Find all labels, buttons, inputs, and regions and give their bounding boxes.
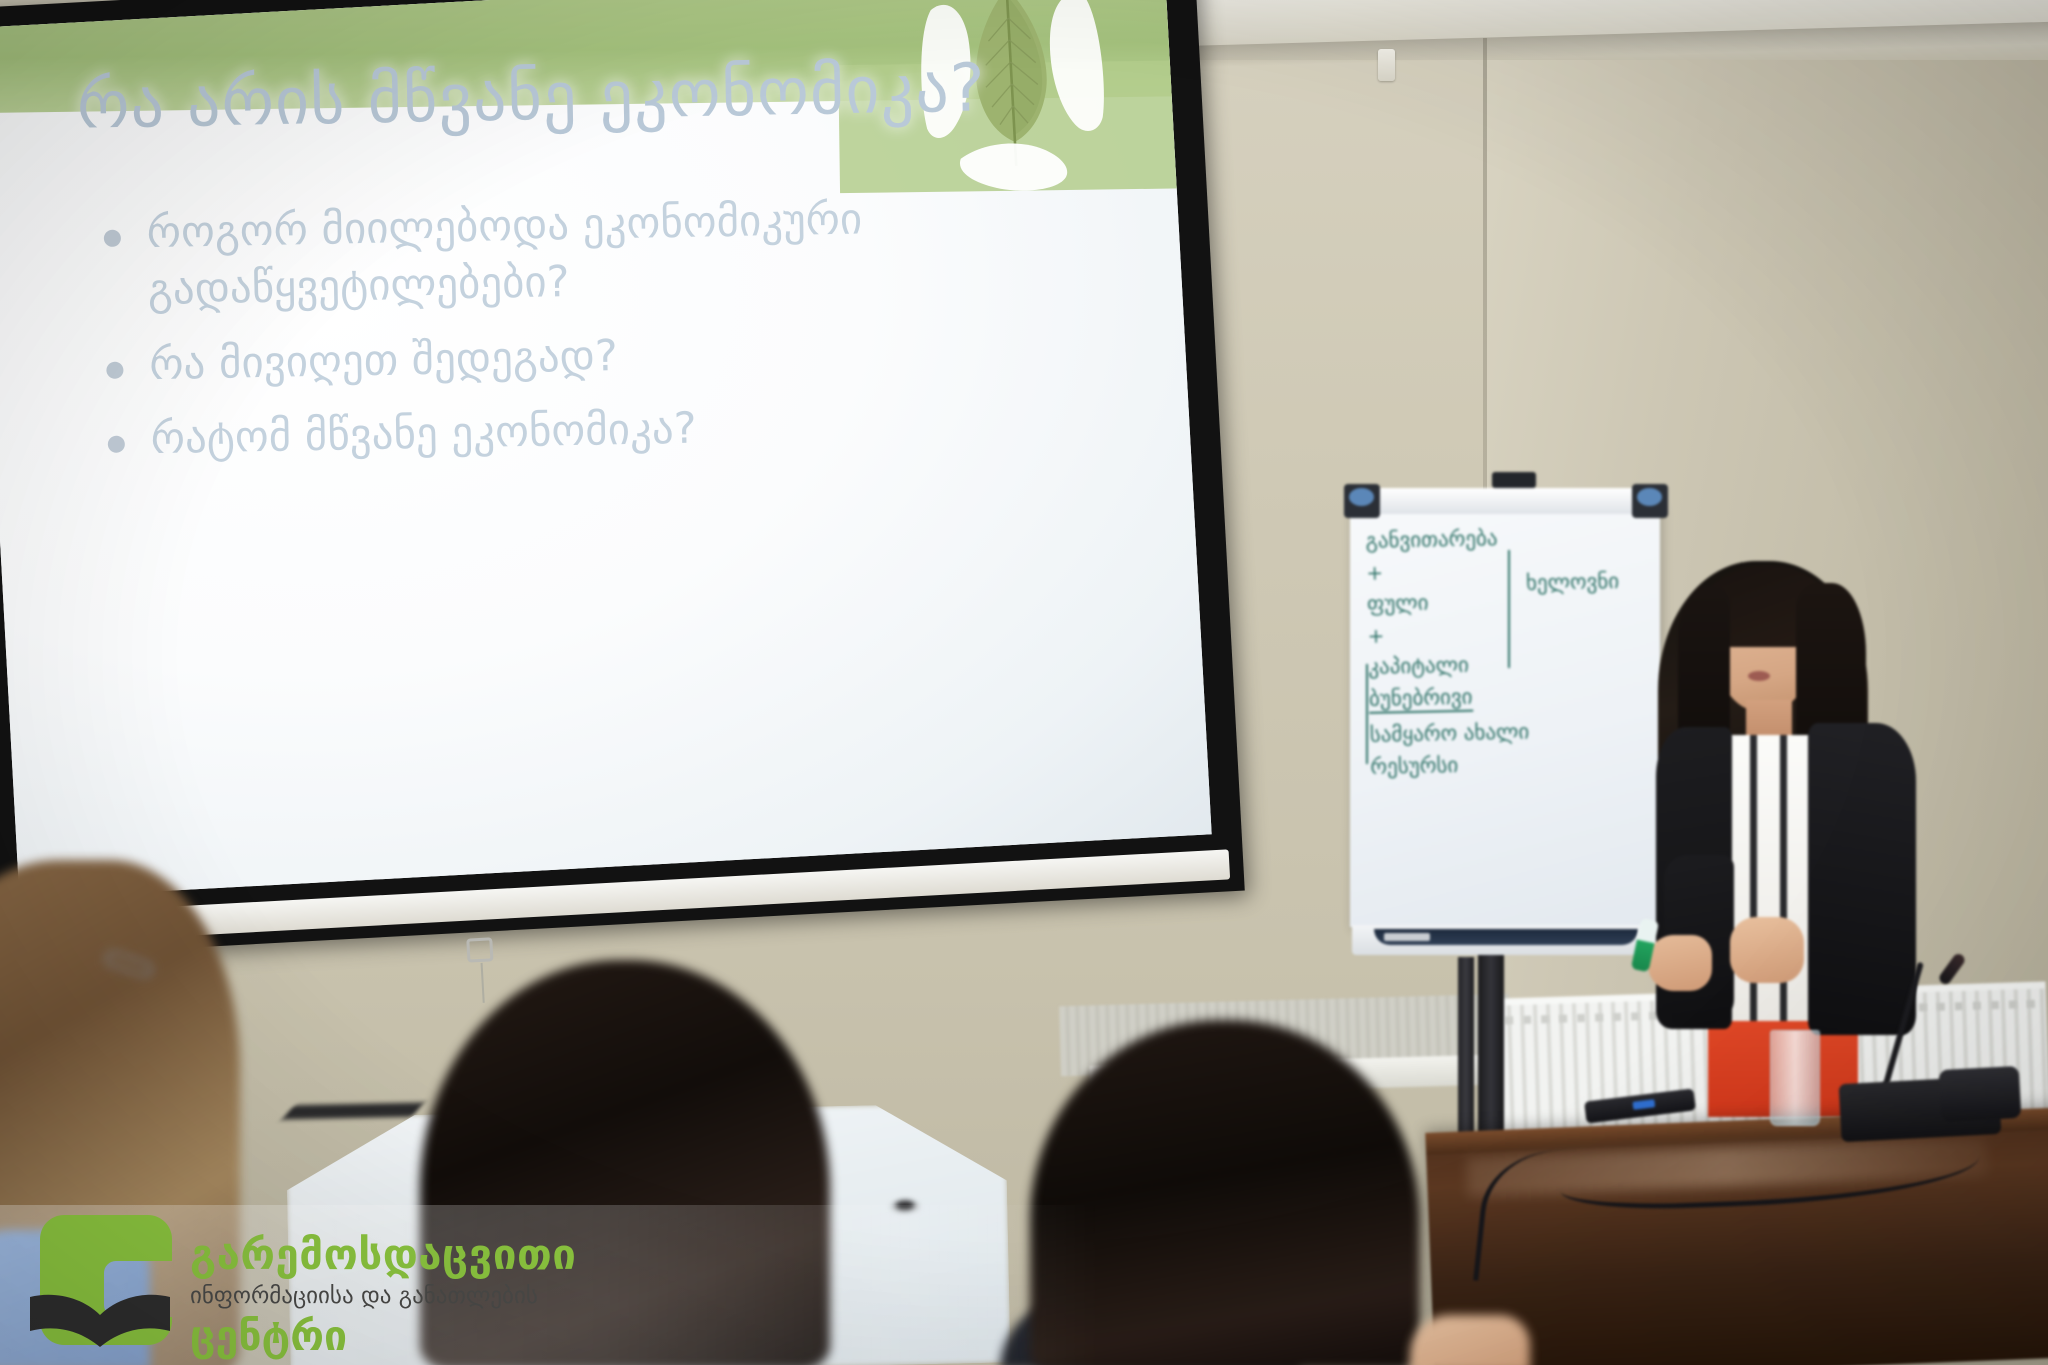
logo-line-3: ცენტრი [190,1316,690,1357]
table-edge-shadow [282,1103,424,1120]
logo-line-1: გარემოსდაცვითი [190,1234,690,1276]
presenter-hand-left [1648,935,1712,991]
bullet-dot-icon [108,436,125,453]
slide-bullet-list: როგორ მიილებოდა ეკონომიკური გადაწყვეტილე… [103,189,988,487]
flipchart-plus: + [1367,620,1641,646]
logo-line-2: ინფორმაციისა და განათლების [190,1285,690,1308]
logo-mark-icon [30,1209,182,1355]
flipchart-clamp-right[interactable] [1632,484,1668,518]
slide-bullet-item: რატომ მწვანე ეკონომიკა? [107,395,988,469]
flipchart-tray [1352,925,1658,955]
flipchart-text: რესურსი [1370,751,1644,778]
flipchart-stand-secondary [1458,957,1474,1157]
bullet-text: რა მივიღეთ შედეგად? [149,328,618,394]
flipchart-text: კაპიტალი [1368,651,1642,678]
flipchart-tray-marker[interactable] [1384,933,1430,941]
screen-surface: რა არის მწვანე ეკონომიკა? როგორ მიილებოდ… [0,0,1212,899]
flipchart-text: განვითარება [1365,525,1639,552]
flipchart-line: განვითარება + ფული + კაპიტალი ბუნებრივი … [1365,525,1644,778]
screen-pull-ring-icon[interactable] [466,937,493,962]
slide-bullet-item: როგორ მიილებოდა ეკონომიკური გადაწყვეტილე… [103,189,985,319]
flipchart-clamp-left[interactable] [1344,484,1380,518]
flipchart-top-nub [1492,472,1536,488]
audience-hand [1410,1315,1530,1365]
slide-bullet-item: რა მივიღეთ შედეგად? [106,321,987,395]
presenter-mouth [1748,671,1770,681]
bullet-text: როგორ მიილებოდა ეკონომიკური გადაწყვეტილე… [146,189,985,319]
flipchart-text: ბუნებრივი [1369,687,1473,714]
bullet-text: რატომ მწვანე ეკონომიკა? [150,401,697,468]
organization-logo: გარემოსდაცვითი ინფორმაციისა და განათლები… [30,1209,690,1361]
flipchart-handwriting: განვითარება + ფული + კაპიტალი ბუნებრივი … [1358,514,1652,924]
wall-sensor-icon [1378,49,1395,81]
remote-button-icon[interactable] [1632,1099,1655,1110]
water-glass[interactable] [1770,1030,1820,1126]
flipchart-paper: განვითარება + ფული + კაპიტალი ბუნებრივი … [1350,502,1660,927]
projection-screen: რა არის მწვანე ეკონომიკა? როგორ მიილებოდ… [0,0,1245,958]
logo-text-block: გარემოსდაცვითი ინფორმაციისა და განათლები… [190,1234,690,1357]
presenter-jacket-right [1808,723,1916,1035]
flipchart-side-note: ხელოვნი [1526,571,1620,594]
microphone-base-secondary[interactable] [1939,1066,2022,1122]
flipchart-paper-roll [1360,488,1650,514]
bullet-dot-icon [106,361,123,378]
flipchart-text: სამყარო ახალი [1370,719,1644,746]
bullet-dot-icon [104,230,121,247]
presenter-hand-right [1730,917,1804,983]
photo-canvas: რა არის მწვანე ეკონომიკა? როგორ მიილებოდ… [0,0,2048,1365]
